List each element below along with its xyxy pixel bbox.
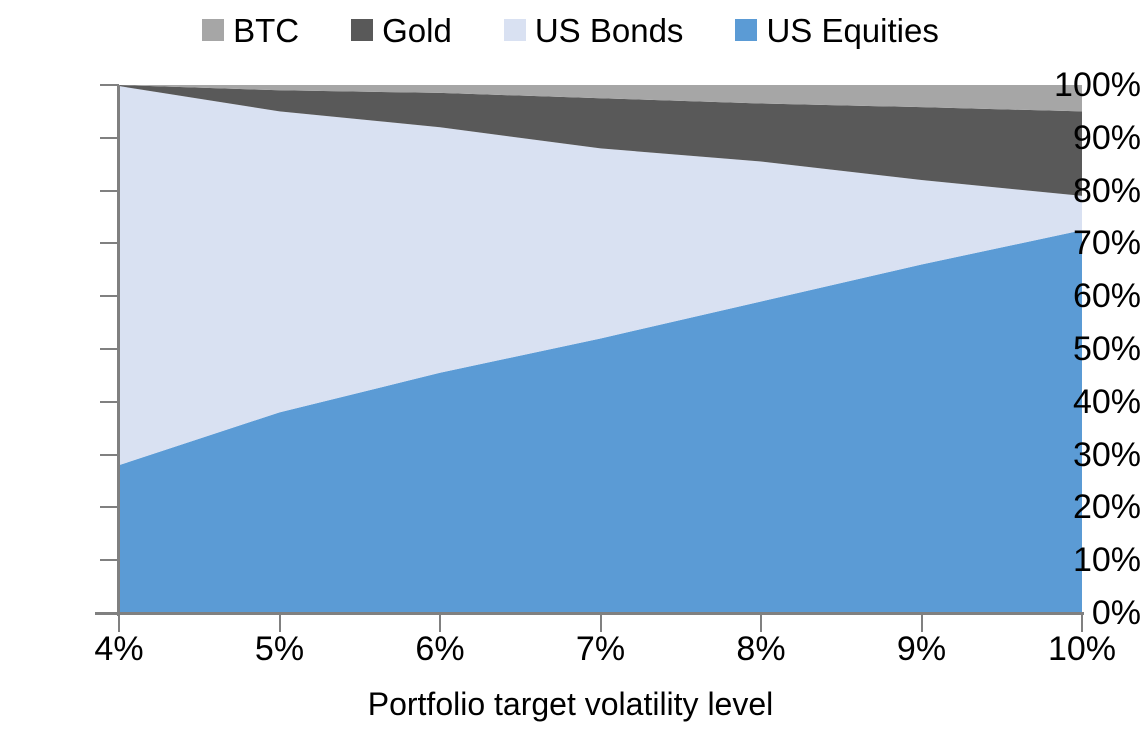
y-axis-label: 80% (1037, 174, 1141, 208)
y-axis-tick (100, 190, 119, 192)
legend-label-btc: BTC (233, 14, 299, 47)
y-axis-label: 50% (1037, 332, 1141, 366)
y-axis-tick (100, 612, 119, 614)
y-axis-tick (100, 559, 119, 561)
y-axis-label: 0% (1037, 596, 1141, 630)
x-axis-title: Portfolio target volatility level (0, 688, 1141, 720)
y-axis-label: 20% (1037, 490, 1141, 524)
legend-item-us-equities[interactable]: US Equities (735, 14, 938, 47)
y-axis-label: 90% (1037, 121, 1141, 155)
legend-label-us-bonds: US Bonds (535, 14, 684, 47)
y-axis-label: 60% (1037, 279, 1141, 313)
y-axis-tick (100, 295, 119, 297)
y-axis-tick (100, 401, 119, 403)
y-axis-tick (100, 242, 119, 244)
y-axis-tick (100, 348, 119, 350)
x-axis-label: 8% (736, 632, 785, 666)
x-axis-label: 4% (94, 632, 143, 666)
y-axis-tick (100, 137, 119, 139)
legend-label-gold: Gold (382, 14, 452, 47)
y-axis-line (117, 85, 120, 616)
y-axis-label: 10% (1037, 543, 1141, 577)
x-axis-label: 5% (255, 632, 304, 666)
x-axis-label: 10% (1048, 632, 1116, 666)
x-axis-label: 9% (897, 632, 946, 666)
legend-item-us-bonds[interactable]: US Bonds (504, 14, 684, 47)
legend-swatch-icon-us-bonds (504, 19, 526, 41)
y-axis-label: 70% (1037, 226, 1141, 260)
legend-swatch-icon-btc (202, 19, 224, 41)
chart-legend: BTC Gold US Bonds US Equities (0, 8, 1141, 52)
y-axis-tick (100, 454, 119, 456)
legend-item-gold[interactable]: Gold (351, 14, 452, 47)
x-axis-label: 6% (415, 632, 464, 666)
x-axis-line (95, 612, 1084, 615)
y-axis-tick (100, 506, 119, 508)
legend-item-btc[interactable]: BTC (202, 14, 299, 47)
y-axis-label: 100% (1037, 68, 1141, 102)
stacked-area-chart: BTC Gold US Bonds US Equities 0%10%20%30… (0, 0, 1141, 742)
y-axis-tick (100, 84, 119, 86)
x-axis-label: 7% (576, 632, 625, 666)
y-axis-label: 30% (1037, 438, 1141, 472)
area-series-group (119, 85, 1082, 613)
plot-area (119, 85, 1082, 613)
y-axis-label: 40% (1037, 385, 1141, 419)
legend-swatch-icon-gold (351, 19, 373, 41)
legend-swatch-icon-us-equities (735, 19, 757, 41)
legend-label-us-equities: US Equities (766, 14, 938, 47)
